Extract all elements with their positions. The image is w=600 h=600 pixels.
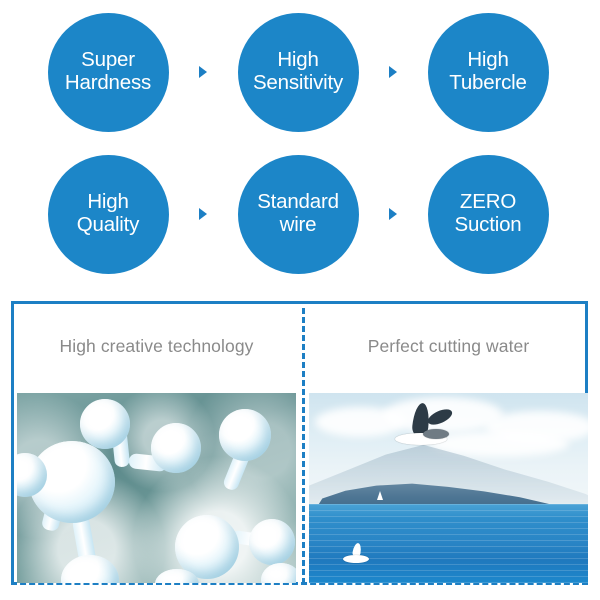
molecule-sphere xyxy=(80,399,130,449)
feature-label-line1: Standard xyxy=(257,191,339,214)
feature-circle-zero-suction[interactable]: ZERO Suction xyxy=(428,155,549,274)
feature-label-line2: Tubercle xyxy=(449,72,526,95)
feature-circle-high-quality[interactable]: High Quality xyxy=(48,155,169,274)
feature-slot-6: ZERO Suction xyxy=(424,150,552,278)
feature-label-line2: Hardness xyxy=(65,72,151,95)
molecule-sphere xyxy=(219,409,271,461)
molecule-sphere xyxy=(151,423,201,473)
feature-row-1: Super Hardness High Sensitivity High Tub… xyxy=(0,8,600,136)
feature-label-line1: High xyxy=(277,49,318,72)
feature-label-line1: ZERO xyxy=(460,191,516,214)
triangle-right-icon xyxy=(199,208,207,220)
showcase-panel: High creative technology Perfect xyxy=(11,301,588,585)
feature-flow-diagram: Super Hardness High Sensitivity High Tub… xyxy=(0,0,600,290)
feature-label-line1: High xyxy=(87,191,128,214)
feature-label-line2: Sensitivity xyxy=(253,72,343,95)
feature-circle-super-hardness[interactable]: Super Hardness xyxy=(48,13,169,132)
triangle-right-icon xyxy=(199,66,207,78)
sailboat-icon xyxy=(377,491,383,500)
feature-label-line2: Quality xyxy=(77,214,139,237)
seagull-small-icon xyxy=(343,543,373,565)
molecular-bubble-photo xyxy=(17,393,296,583)
molecule-sphere xyxy=(249,519,295,565)
triangle-right-icon xyxy=(389,208,397,220)
feature-row-2: High Quality Standard wire ZERO Suction xyxy=(0,150,600,278)
feature-slot-3: High Tubercle xyxy=(424,8,552,136)
feature-circle-high-tubercle[interactable]: High Tubercle xyxy=(428,13,549,132)
feature-slot-2: High Sensitivity xyxy=(234,8,362,136)
triangle-right-icon xyxy=(389,66,397,78)
arrow-slot-1 xyxy=(172,8,234,136)
feature-label-line2: wire xyxy=(280,214,317,237)
seagull-large-icon xyxy=(393,403,459,447)
arrow-slot-3 xyxy=(172,150,234,278)
showcase-column-left: High creative technology xyxy=(14,304,299,582)
feature-slot-1: Super Hardness xyxy=(44,8,172,136)
feature-label-line1: Super xyxy=(81,49,135,72)
sea-seagull-photo xyxy=(309,393,588,583)
feature-slot-4: High Quality xyxy=(44,150,172,278)
showcase-caption-right: Perfect cutting water xyxy=(306,336,591,357)
feature-circle-standard-wire[interactable]: Standard wire xyxy=(238,155,359,274)
feature-label-line2: Suction xyxy=(455,214,522,237)
showcase-caption-left: High creative technology xyxy=(14,336,299,357)
feature-label-line1: High xyxy=(467,49,508,72)
arrow-slot-2 xyxy=(362,8,424,136)
photo-background xyxy=(309,393,588,583)
panel-vertical-divider xyxy=(302,308,305,584)
showcase-column-right: Perfect cutting water xyxy=(306,304,591,582)
feature-circle-high-sensitivity[interactable]: High Sensitivity xyxy=(238,13,359,132)
arrow-slot-4 xyxy=(362,150,424,278)
feature-slot-5: Standard wire xyxy=(234,150,362,278)
